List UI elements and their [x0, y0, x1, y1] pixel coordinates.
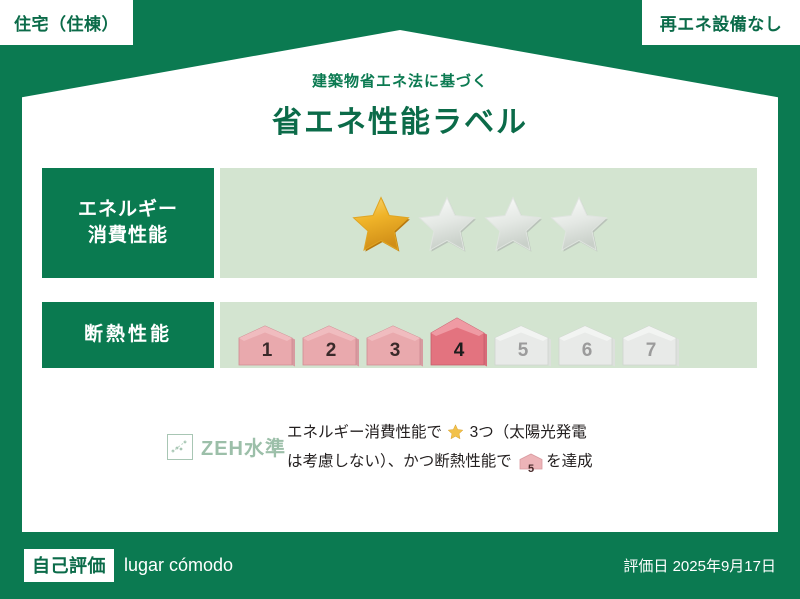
grade-badge-inline-value: 5 [519, 460, 543, 478]
insulation-grade-6: 6 [558, 325, 616, 368]
zeh-desc-part3: を達成 [546, 453, 593, 470]
star-rating [220, 193, 610, 253]
row-energy-label-line2: 消費性能 [88, 223, 168, 249]
badge-building-type-label: 住宅（住棟） [14, 10, 119, 35]
footer-left: 自己評価 lugar cómodo [24, 549, 233, 582]
star-icon-filled [350, 193, 412, 253]
badge-building-type: 住宅（住棟） [0, 0, 133, 45]
zeh-desc-part2: は考慮しない）、かつ断熱性能で [287, 453, 512, 470]
row-energy-body [220, 168, 757, 278]
row-insulation-label-text: 断熱性能 [84, 322, 172, 348]
label-subtitle: 建築物省エネ法に基づく [0, 70, 800, 91]
energy-performance-label: 住宅（住棟） 再エネ設備なし 建築物省エネ法に基づく 省エネ性能ラベル エネルギ… [0, 0, 800, 599]
row-energy-label-line1: エネルギー [78, 197, 178, 223]
insulation-grade-scale: 1234567 [220, 302, 680, 368]
badge-renewable-equipment: 再エネ設備なし [642, 0, 800, 45]
badge-renewable-label: 再エネ設備なし [660, 10, 783, 35]
grade-badge-inline: 5 [519, 453, 543, 479]
insulation-grade-value: 6 [558, 340, 616, 362]
star-icon-empty [416, 193, 478, 253]
zeh-trend-icon [167, 434, 193, 460]
row-insulation-label: 断熱性能 [42, 302, 214, 368]
row-insulation-body: 1234567 [220, 302, 757, 368]
insulation-grade-value: 4 [430, 340, 488, 362]
row-energy-consumption: エネルギー 消費性能 [42, 168, 757, 278]
row-insulation-performance: 断熱性能 1234567 [42, 302, 757, 368]
company-name: lugar cómodo [124, 555, 233, 576]
row-energy-label: エネルギー 消費性能 [42, 168, 214, 278]
zeh-badge: ZEH水準 [42, 420, 287, 461]
evaluation-date: 評価日 2025年9月17日 [623, 555, 776, 576]
insulation-grade-5: 5 [494, 325, 552, 368]
insulation-grade-value: 7 [622, 340, 680, 362]
insulation-grade-value: 3 [366, 340, 424, 362]
zeh-standard-block: ZEH水準 エネルギー消費性能で 3つ（太陽光発電 は考慮しない）、かつ断熱性能… [42, 420, 758, 478]
insulation-grade-3: 3 [366, 325, 424, 368]
zeh-desc-part1: エネルギー消費性能で [287, 424, 442, 441]
insulation-grade-value: 2 [302, 340, 360, 362]
insulation-grade-1: 1 [238, 325, 296, 368]
insulation-grade-2: 2 [302, 325, 360, 368]
insulation-grade-value: 1 [238, 340, 296, 362]
insulation-grade-4: 4 [430, 317, 488, 368]
star-icon-empty [548, 193, 610, 253]
footer: 自己評価 lugar cómodo 評価日 2025年9月17日 [0, 532, 800, 599]
zeh-desc-star-count: 3つ（太陽光発電 [470, 424, 587, 441]
title-block: 建築物省エネ法に基づく 省エネ性能ラベル [0, 70, 800, 141]
insulation-grade-7: 7 [622, 325, 680, 368]
star-icon-inline [447, 427, 468, 444]
page-title: 省エネ性能ラベル [0, 97, 800, 141]
zeh-label: ZEH水準 [201, 432, 286, 461]
zeh-description: エネルギー消費性能で 3つ（太陽光発電 は考慮しない）、かつ断熱性能で 5 を達… [287, 420, 758, 478]
insulation-grade-value: 5 [494, 340, 552, 362]
star-icon-empty [482, 193, 544, 253]
self-evaluation-chip: 自己評価 [24, 549, 114, 582]
